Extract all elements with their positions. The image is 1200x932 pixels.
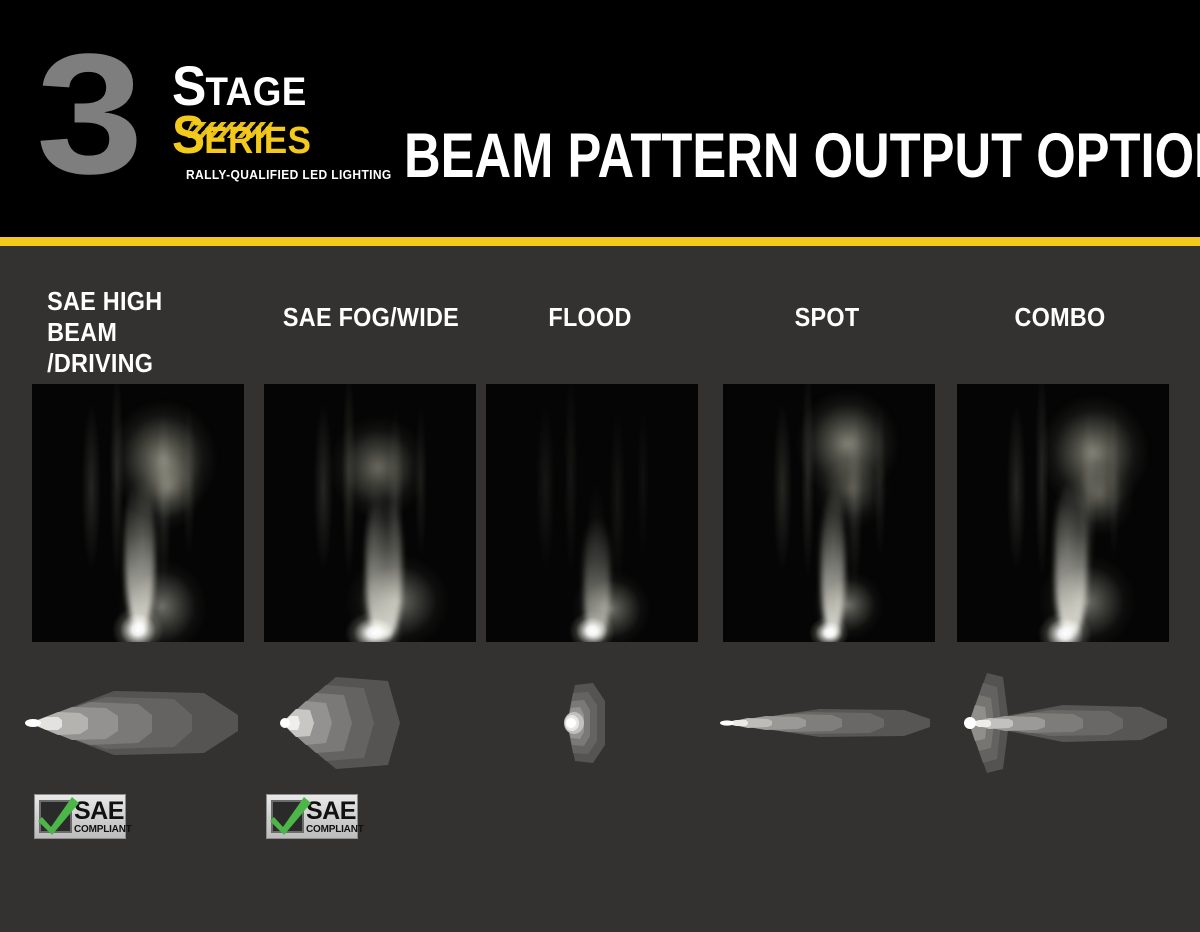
- beam-diagram-sae-fog-wide: [248, 671, 478, 776]
- sae-compliant-badge: SAE COMPLIANT: [34, 794, 126, 839]
- column-label-line-1: FLOOD: [548, 302, 631, 332]
- logo-wordmark: STAGE SERIES: [172, 58, 372, 162]
- check-icon: [36, 794, 82, 838]
- column-label: SAE HIGH BEAM /DRIVING: [26, 286, 233, 379]
- column-label-line-1: COMBO: [1014, 302, 1105, 332]
- column-label: COMBO: [957, 302, 1164, 333]
- logo-series-cap: S: [172, 105, 204, 165]
- column-label-line-1: SPOT: [795, 302, 860, 332]
- beam-photo-flood: [486, 384, 698, 642]
- column-sae-fog-wide: SAE FOG/WIDE: [248, 246, 478, 932]
- page-title: BEAM PATTERN OUTPUT OPTIONS: [404, 120, 1200, 193]
- logo-numeral-3: 3: [36, 28, 137, 199]
- stage-series-logo: 3 STAGE SERIES RALLY-QUALIFIED LED LIGHT…: [36, 42, 356, 192]
- beam-diagram-spot: [712, 671, 942, 776]
- beam-photo-sae-fog-wide: [264, 384, 476, 642]
- beam-pattern-columns: SAE HIGH BEAM /DRIVING: [0, 246, 1200, 932]
- sae-check-box: [271, 800, 304, 833]
- sae-badge-title: SAE: [306, 799, 364, 824]
- column-combo: COMBO: [945, 246, 1175, 932]
- yellow-divider: [0, 237, 1200, 246]
- column-flood: FLOOD: [475, 246, 705, 932]
- beam-shape-fan-plus-lance: [945, 671, 1175, 776]
- sae-badge-subtitle: COMPLIANT: [306, 825, 364, 835]
- sae-badge-subtitle: COMPLIANT: [74, 825, 132, 835]
- check-icon: [268, 794, 314, 838]
- column-label-line-1: SAE FOG/WIDE: [283, 302, 459, 332]
- beam-diagram-flood: [475, 671, 705, 776]
- logo-series-rest: ERIES: [204, 120, 311, 162]
- beam-diagram-combo: [945, 671, 1175, 776]
- beam-photo-spot: [723, 384, 935, 642]
- column-label-line-2: /DRIVING: [47, 348, 153, 378]
- beam-shape-long-wide-teardrop: [14, 671, 244, 776]
- column-spot: SPOT: [712, 246, 942, 932]
- beam-shape-compact-round: [475, 671, 705, 776]
- column-sae-high-beam-driving: SAE HIGH BEAM /DRIVING: [14, 246, 244, 932]
- beam-photo-combo: [957, 384, 1169, 642]
- column-label: SPOT: [724, 302, 931, 333]
- logo-word-series: SERIES: [172, 108, 356, 162]
- beam-diagram-sae-high-beam-driving: [14, 671, 244, 776]
- column-label: SAE FOG/WIDE: [260, 302, 467, 333]
- logo-tagline: RALLY-QUALIFIED LED LIGHTING: [186, 168, 392, 182]
- beam-shape-long-narrow-lance: [712, 671, 942, 776]
- sae-check-box: [39, 800, 72, 833]
- column-label: FLOOD: [487, 302, 694, 333]
- column-label-line-1: SAE HIGH BEAM: [47, 286, 162, 347]
- beam-photo-sae-high-beam-driving: [32, 384, 244, 642]
- sae-badge-title: SAE: [74, 799, 132, 824]
- sae-compliant-badge: SAE COMPLIANT: [266, 794, 358, 839]
- beam-shape-wide-short-cone: [248, 671, 478, 776]
- sae-badge-text: SAE COMPLIANT: [306, 799, 364, 835]
- beam-pattern-infographic: 3 STAGE SERIES RALLY-QUALIFIED LED LIGHT…: [0, 0, 1200, 932]
- sae-badge-text: SAE COMPLIANT: [74, 799, 132, 835]
- header-bar: 3 STAGE SERIES RALLY-QUALIFIED LED LIGHT…: [0, 0, 1200, 237]
